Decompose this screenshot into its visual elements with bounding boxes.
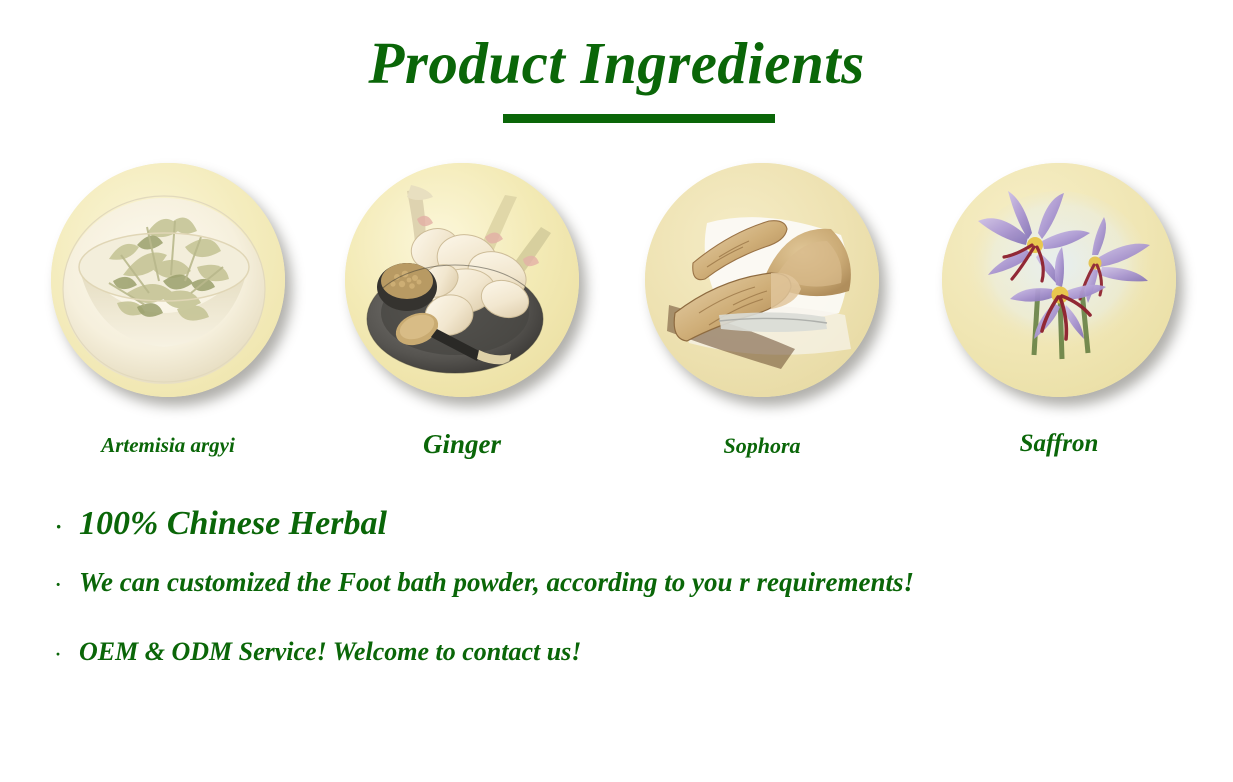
ingredient-caption: Sophora — [645, 433, 879, 459]
bullet-item-chinese-herbal: · 100% Chinese Herbal — [55, 505, 1205, 567]
ingredient-card-artemisia-argyi: Artemisia argyi — [51, 163, 285, 458]
sophora-photo — [645, 163, 879, 397]
ingredient-caption: Saffron — [942, 430, 1176, 458]
bullet-marker-icon: · — [55, 575, 79, 597]
bullet-marker-icon: · — [55, 644, 79, 665]
bullet-item-customization: · We can customized the Foot bath powder… — [55, 567, 1205, 637]
ingredient-card-sophora: Sophora — [645, 163, 879, 459]
ginger-photo — [345, 163, 579, 397]
bullet-marker-icon: · — [55, 514, 79, 540]
bullet-text: OEM & ODM Service! Welcome to contact us… — [79, 637, 581, 667]
page-title: Product Ingredients — [0, 28, 1233, 98]
ingredients-row: Artemisia argyi — [0, 163, 1233, 453]
ingredient-card-saffron: Saffron — [942, 163, 1176, 458]
title-underline-rule — [503, 114, 775, 123]
ingredient-card-ginger: Ginger — [345, 163, 579, 460]
bullet-item-oem-odm: · OEM & ODM Service! Welcome to contact … — [55, 637, 1205, 689]
ingredient-caption: Artemisia argyi — [51, 433, 285, 458]
ingredient-caption: Ginger — [345, 429, 579, 460]
feature-bullet-list: · 100% Chinese Herbal · We can customize… — [55, 505, 1205, 689]
title-block: Product Ingredients — [0, 28, 1233, 98]
artemisia-argyi-photo — [51, 163, 285, 397]
bullet-text: 100% Chinese Herbal — [79, 505, 387, 543]
saffron-photo — [942, 163, 1176, 397]
product-ingredients-slide: Product Ingredients — [0, 0, 1233, 782]
bullet-text: We can customized the Foot bath powder, … — [79, 567, 914, 598]
